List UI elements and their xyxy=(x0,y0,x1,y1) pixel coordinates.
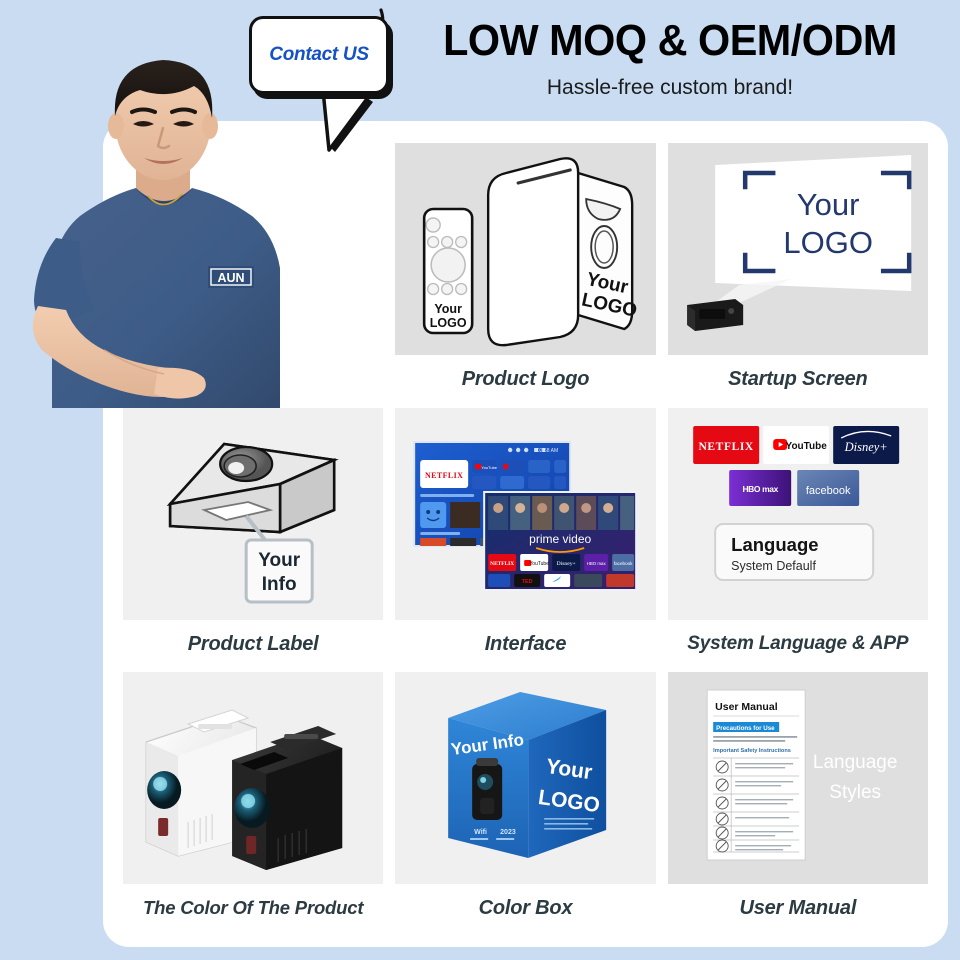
manual-section: Important Safety Instructions xyxy=(713,748,791,754)
manual-banner: Precautions for Use xyxy=(716,725,775,732)
svg-text:Wifi: Wifi xyxy=(474,829,487,836)
product-label-thumb: Your Info xyxy=(123,408,383,620)
product-logo-thumb: Your LOGO Your LOGO xyxy=(395,143,655,355)
card-startup-screen[interactable]: Your LOGO Startup Screen xyxy=(662,139,934,404)
feature-grid: Your LOGO Your LOGO Product Logo xyxy=(103,121,948,947)
user-manual-thumb: User Manual Precautions for Use Importan… xyxy=(668,672,928,884)
card-caption: Startup Screen xyxy=(728,368,867,391)
language-title: Language xyxy=(731,534,818,555)
app-label-netflix: NETFLIX xyxy=(698,441,753,453)
card-caption: Interface xyxy=(485,633,567,656)
remote-logo-line2: LOGO xyxy=(430,316,467,330)
prime-video-label: prime video xyxy=(529,532,591,546)
app-label-youtube: YouTube xyxy=(785,441,827,452)
card-caption: The Color Of The Product xyxy=(143,897,363,919)
tv1-netflix-label: NETFLIX xyxy=(425,471,463,480)
svg-text:YouTube: YouTube xyxy=(530,561,550,567)
tv-screen-primevideo: prime video NETFLIX YouTube Disney+ HBO … xyxy=(484,492,636,590)
system-language-thumb: NETFLIX YouTube Disney+ HBO max facebook… xyxy=(668,408,928,620)
remote-logo-line1: Your xyxy=(435,302,463,316)
card-product-label[interactable]: Your Info Product Label xyxy=(117,404,389,669)
tv1-youtube-label: YouTube xyxy=(482,465,498,470)
card-product-logo[interactable]: Your LOGO Your LOGO Product Logo xyxy=(389,139,661,404)
header: LOW MOQ & OEM/ODM Hassle-free custom bra… xyxy=(390,18,950,100)
manual-overlay-line2: Styles xyxy=(829,782,881,803)
card-user-manual[interactable]: User Manual Precautions for Use Importan… xyxy=(662,668,934,933)
startup-logo-line2: LOGO xyxy=(783,225,873,260)
card-color-box[interactable]: Your Info Wifi 2023 Your LOGO xyxy=(389,668,661,933)
card-caption: Product Label xyxy=(188,633,319,656)
card-caption: Product Logo xyxy=(462,368,590,391)
card-caption: Color Box xyxy=(479,897,573,920)
startup-logo-line1: Your xyxy=(797,187,860,222)
page-subtitle: Hassle-free custom brand! xyxy=(390,76,950,100)
svg-text:TED: TED xyxy=(522,579,533,585)
label-callout-line2: Info xyxy=(262,574,297,595)
manual-overlay-line1: Language xyxy=(813,752,898,773)
startup-screen-thumb: Your LOGO xyxy=(668,143,928,355)
color-box-thumb: Your Info Wifi 2023 Your LOGO xyxy=(395,672,655,884)
card-caption: User Manual xyxy=(739,897,856,920)
card-system-language-app[interactable]: NETFLIX YouTube Disney+ HBO max facebook… xyxy=(662,404,934,669)
language-value: System Defaulf xyxy=(731,559,816,573)
label-callout-line1: Your xyxy=(258,550,300,571)
svg-text:2023: 2023 xyxy=(500,829,516,836)
projector-icon xyxy=(687,299,743,331)
manual-title: User Manual xyxy=(715,701,778,713)
card-product-colors[interactable]: The Color Of The Product xyxy=(117,668,389,933)
svg-text:Disney+: Disney+ xyxy=(557,561,576,567)
svg-text:HBO max: HBO max xyxy=(587,561,607,566)
svg-text:NETFLIX: NETFLIX xyxy=(491,561,515,567)
app-label-facebook: facebook xyxy=(806,485,851,497)
product-colors-thumb xyxy=(123,672,383,884)
card-caption: System Language & APP xyxy=(687,633,908,655)
card-interface[interactable]: 02:58 AM NETFLIX YouTube xyxy=(389,404,661,669)
box-product-image xyxy=(472,758,502,820)
app-label-hbomax: HBO max xyxy=(742,484,778,494)
interface-thumb: 02:58 AM NETFLIX YouTube xyxy=(395,408,655,620)
svg-text:02:58 AM: 02:58 AM xyxy=(537,448,558,454)
svg-text:facebook: facebook xyxy=(614,561,633,566)
app-label-disney: Disney+ xyxy=(843,440,887,454)
page-title: LOW MOQ & OEM/ODM xyxy=(407,18,933,64)
